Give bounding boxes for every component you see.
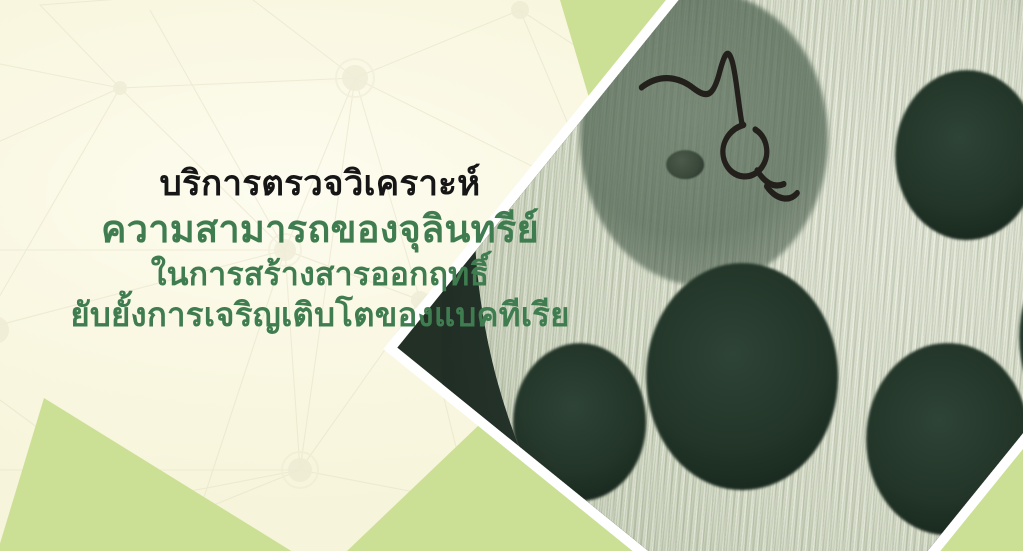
headline-line-3: ในการสร้างสารออกฤทธิ์ bbox=[0, 258, 640, 290]
headline-line-2: ความสามารถของจุลินทรีย์ bbox=[0, 211, 640, 249]
promo-banner: บริการตรวจวิเคราะห์ ความสามารถของจุลินทร… bbox=[0, 0, 1023, 551]
headline-line-1: บริการตรวจวิเคราะห์ bbox=[0, 166, 640, 201]
headline-block: บริการตรวจวิเคราะห์ ความสามารถของจุลินทร… bbox=[0, 166, 640, 331]
headline-line-4: ยับยั้งการเจริญเติบโตของแบคทีเรีย bbox=[0, 298, 640, 331]
